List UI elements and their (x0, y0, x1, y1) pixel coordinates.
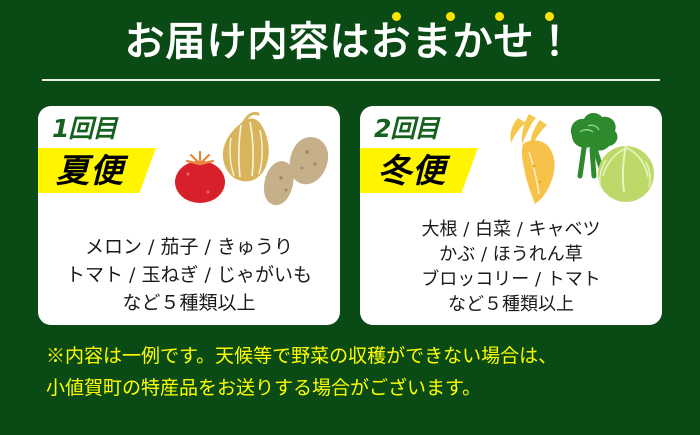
card-line: など５種類以上 (38, 289, 340, 317)
disclaimer-note: ※内容は一例です。天候等で野菜の収穫ができない場合は、 小値賀町の特産品をお送り… (46, 340, 656, 404)
page-title: お届け内容はおまかせ！ (0, 16, 700, 68)
carrot-icon (510, 114, 554, 204)
disclaimer-line: ※内容は一例です。天候等で野菜の収穫ができない場合は、 (46, 340, 656, 372)
card-line: など５種類以上 (360, 292, 662, 317)
card-line: 大根 / 白菜 / キャベツ (360, 217, 662, 242)
card-season-label: 冬便 (378, 148, 446, 193)
potato-icon (264, 161, 294, 205)
card-line: メロン / 茄子 / きゅうり (38, 233, 340, 261)
cabbage-icon (598, 146, 654, 202)
header: お届け内容はおまかせ！ (0, 0, 700, 96)
promo-poster: お届け内容はおまかせ！ 1回目 夏便 (0, 0, 700, 435)
card-line: ブロッコリー / トマト (360, 267, 662, 292)
card-line: かぶ / ほうれん草 (360, 242, 662, 267)
card-index-label: 2回目 (374, 114, 438, 144)
delivery-card-winter: 2回目 冬便 (360, 106, 662, 325)
onion-icon (223, 113, 269, 181)
card-contents-list: メロン / 茄子 / きゅうり トマト / 玉ねぎ / じゃがいも など５種類以… (38, 233, 340, 317)
card-line: トマト / 玉ねぎ / じゃがいも (38, 261, 340, 289)
potato-icon (290, 137, 328, 184)
winter-vegetables-illustration (496, 108, 656, 212)
card-index-label: 1回目 (52, 114, 116, 144)
delivery-cards: 1回目 夏便 (38, 106, 662, 325)
tomato-icon (175, 152, 225, 203)
disclaimer-line: 小値賀町の特産品をお送りする場合がございます。 (46, 372, 656, 404)
card-contents-list: 大根 / 白菜 / キャベツ かぶ / ほうれん草 ブロッコリー / トマト な… (360, 217, 662, 317)
card-season-label: 夏便 (56, 148, 124, 193)
summer-vegetables-illustration (174, 108, 334, 212)
delivery-card-summer: 1回目 夏便 (38, 106, 340, 325)
header-divider (42, 79, 660, 81)
